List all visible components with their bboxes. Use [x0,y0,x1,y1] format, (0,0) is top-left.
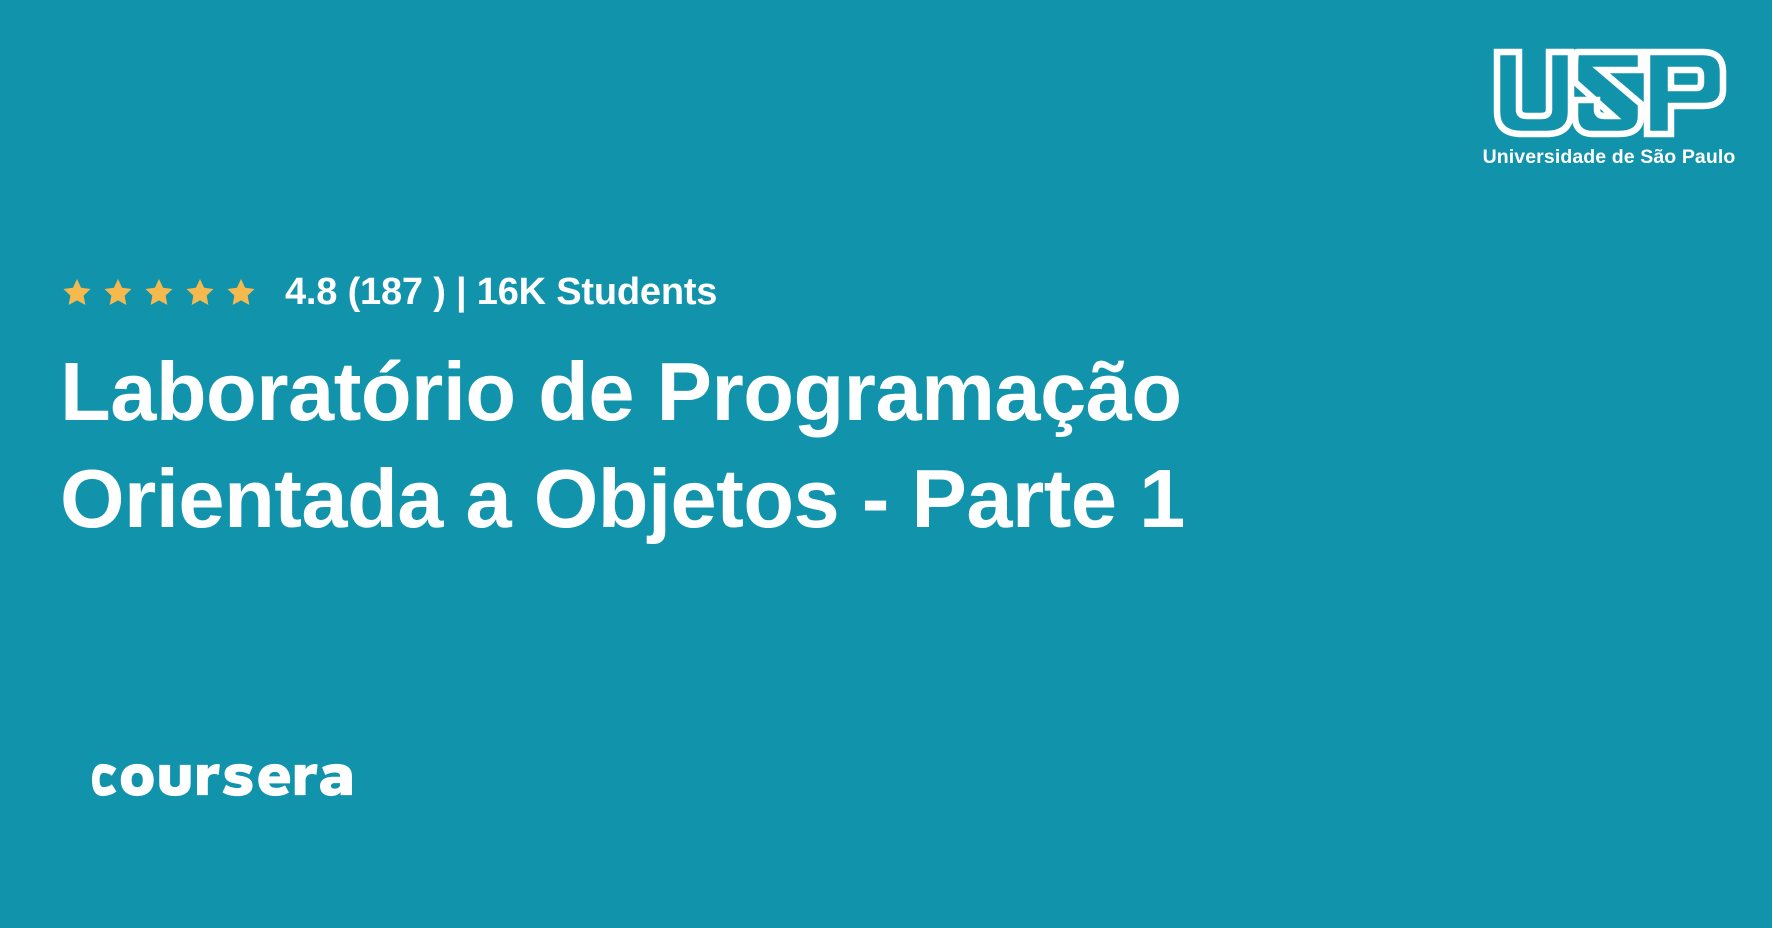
usp-logo: Universidade de São Paulo [1484,44,1734,168]
star-icon [185,277,215,307]
star-icon [103,277,133,307]
course-title-line-2: Orientada a Objetos - Parte 1 [60,445,1510,552]
rating-summary-text: 4.8 (187 ) | 16K Students [285,271,717,314]
course-title: Laboratório de Programação Orientada a O… [60,338,1510,552]
rating-row: 4.8 (187 ) | 16K Students [62,268,717,316]
usp-logo-mark [1489,44,1729,144]
star-rating [62,277,256,307]
star-icon [62,277,92,307]
course-promo-banner: Universidade de São Paulo 4.8 (187 ) | 1… [0,0,1772,928]
course-title-line-1: Laboratório de Programação [60,338,1510,445]
coursera-logo [92,752,352,808]
star-icon [144,277,174,307]
coursera-wordmark [92,752,352,808]
usp-tagline: Universidade de São Paulo [1483,148,1736,168]
star-icon [226,277,256,307]
